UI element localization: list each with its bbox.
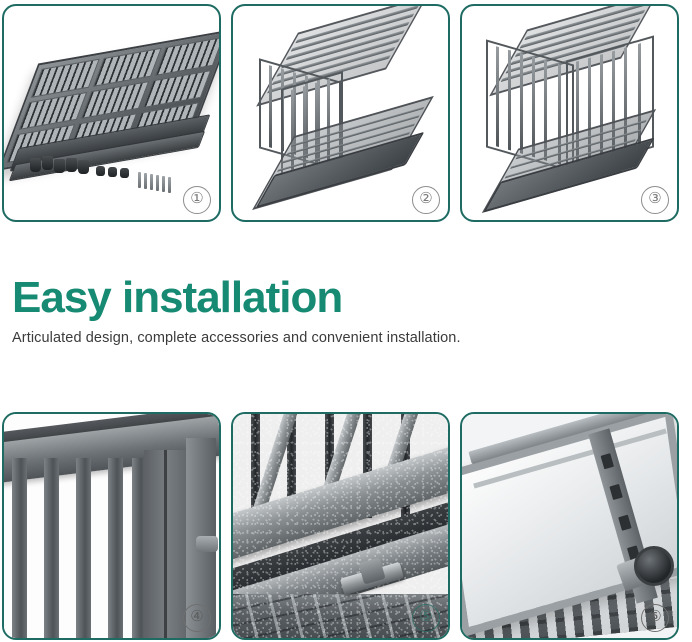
screw-icon (168, 177, 171, 193)
cage-bar (12, 458, 27, 638)
page-subtitle: Articulated design, complete accessories… (12, 330, 672, 346)
step-5-photo (233, 414, 448, 638)
step-4-photo (4, 414, 219, 638)
screw-icon (144, 173, 147, 189)
step-badge-5: ⑤ (412, 604, 440, 632)
step-badge-6: ⑥ (641, 604, 669, 632)
rubber-foot-icon (42, 156, 53, 170)
step-badge-2: ② (412, 186, 440, 214)
knob-icon (120, 168, 129, 178)
step-panel-2[interactable]: ② (231, 4, 450, 222)
knob-icon (96, 166, 105, 176)
rubber-foot-icon (66, 158, 77, 172)
step-3-illustration (462, 6, 677, 220)
lock-knob-icon (196, 536, 218, 552)
step-1-illustration (4, 6, 219, 220)
step-badge-3: ③ (641, 186, 669, 214)
screw-icon (162, 176, 165, 192)
steps-row-bottom: ④ (0, 412, 692, 640)
screw-icon (138, 172, 141, 188)
installation-infographic: ① (0, 0, 692, 642)
step-panel-4[interactable]: ④ (2, 412, 221, 640)
rubber-foot-icon (78, 160, 89, 174)
step-panel-6[interactable]: ⑥ (460, 412, 679, 640)
step-2-illustration (233, 6, 448, 220)
cage-bar (44, 458, 59, 638)
steps-row-top: ① (0, 4, 692, 222)
step-panel-1[interactable]: ① (2, 4, 221, 222)
cage-bar (108, 458, 123, 638)
rubber-foot-icon (30, 158, 41, 172)
cage-bar (76, 458, 91, 638)
screw-icon (156, 175, 159, 191)
screw-icon (150, 174, 153, 190)
step-badge-1: ① (183, 186, 211, 214)
heading-block: Easy installation Articulated design, co… (12, 276, 672, 346)
knob-icon (108, 167, 117, 177)
step-6-photo (462, 414, 677, 638)
step-badge-4: ④ (183, 604, 211, 632)
page-title: Easy installation (12, 276, 672, 320)
caster-wheel-icon (634, 546, 674, 586)
step-panel-3[interactable]: ③ (460, 4, 679, 222)
rubber-foot-icon (54, 159, 65, 173)
step-panel-5[interactable]: ⑤ (231, 412, 450, 640)
